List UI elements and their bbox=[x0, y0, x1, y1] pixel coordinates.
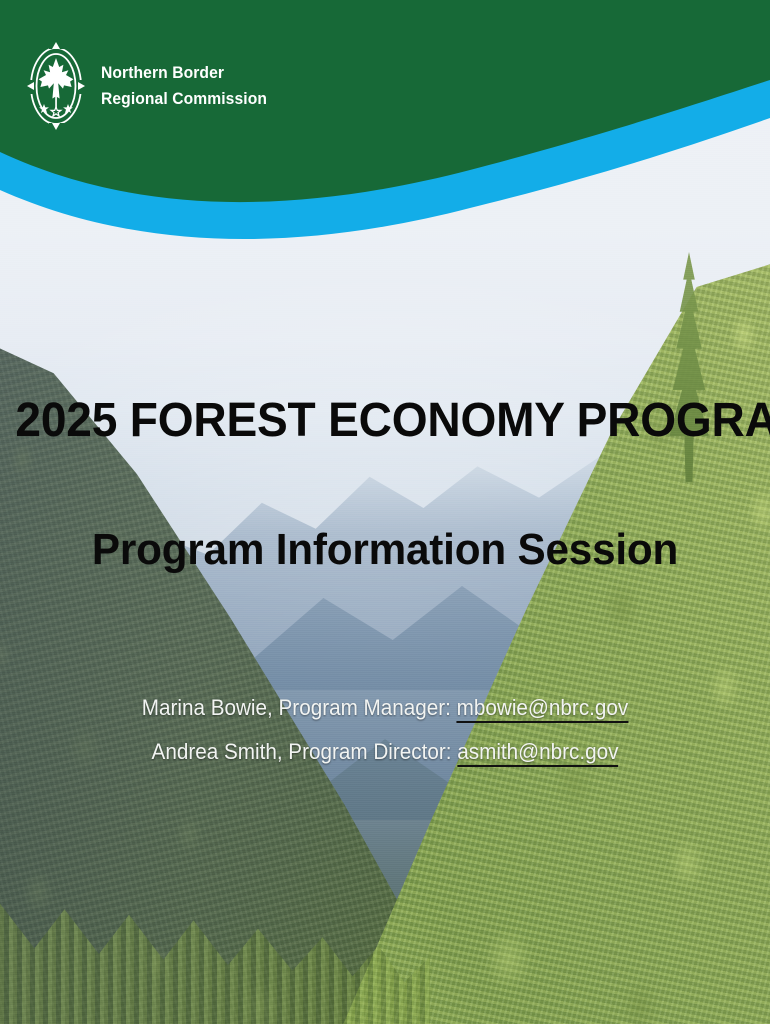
contact-name-role: Marina Bowie, Program Manager: bbox=[142, 695, 457, 720]
contact-line: Marina Bowie, Program Manager: mbowie@nb… bbox=[23, 686, 747, 730]
contact-email-link[interactable]: asmith@nbrc.gov bbox=[457, 739, 618, 767]
organization-name: Northern Border Regional Commission bbox=[101, 62, 281, 110]
maple-leaf-seal-icon bbox=[25, 40, 87, 132]
presentation-slide: Northern Border Regional Commission 2025… bbox=[0, 0, 770, 1024]
slide-title: 2025 FOREST ECONOMY PROGRAM bbox=[15, 392, 754, 450]
right-forest-texture bbox=[330, 255, 770, 1024]
org-name-line-1: Northern Border bbox=[101, 62, 267, 84]
contact-line: Andrea Smith, Program Director: asmith@n… bbox=[23, 730, 747, 774]
org-name-line-2: Regional Commission bbox=[101, 88, 267, 110]
contact-name-role: Andrea Smith, Program Director: bbox=[152, 739, 458, 764]
contact-email-link[interactable]: mbowie@nbrc.gov bbox=[457, 695, 629, 723]
slide-subtitle: Program Information Session bbox=[15, 522, 754, 578]
contact-list: Marina Bowie, Program Manager: mbowie@nb… bbox=[0, 686, 770, 774]
brand-lockup: Northern Border Regional Commission bbox=[25, 40, 281, 132]
